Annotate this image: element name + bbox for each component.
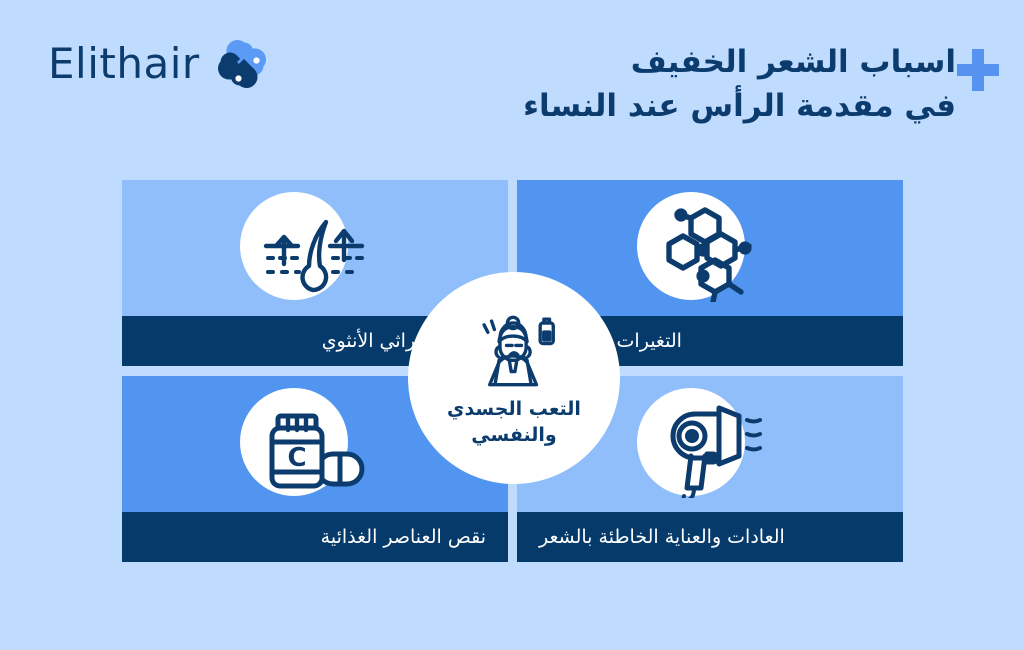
card-label: نقص العناصر الغذائية xyxy=(122,512,508,562)
brand-name: Elithair xyxy=(48,43,200,85)
center-hub-label: التعب الجسدي والنفسي xyxy=(429,396,599,448)
center-hub[interactable]: التعب الجسدي والنفسي xyxy=(408,272,620,484)
hormone-molecule-icon xyxy=(647,198,765,302)
svg-text:C: C xyxy=(287,443,306,473)
card-label: العادات والعناية الخاطئة بالشعر xyxy=(517,512,903,562)
center-hub-label-line-1: التعب الجسدي xyxy=(429,396,599,422)
page-title-line-1: اسباب الشعر الخفيف xyxy=(336,40,956,84)
stressed-woman-low-battery-icon xyxy=(471,312,557,390)
page-title: اسباب الشعر الخفيف في مقدمة الرأس عند ال… xyxy=(336,40,956,128)
brand-lockup: Elithair xyxy=(48,36,270,92)
plus-icon xyxy=(954,46,1002,94)
infographic-canvas: Elithair اسباب الشعر الخفيف في مقدمة الر… xyxy=(0,0,1024,650)
hair-dryer-icon xyxy=(647,394,765,498)
elithair-pinwheel-logo-icon xyxy=(214,36,270,92)
hair-follicle-growth-icon xyxy=(254,198,372,302)
center-hub-label-line-2: والنفسي xyxy=(429,422,599,448)
vitamin-c-bottle-icon: C xyxy=(254,394,372,498)
page-title-line-2: في مقدمة الرأس عند النساء xyxy=(336,84,956,128)
